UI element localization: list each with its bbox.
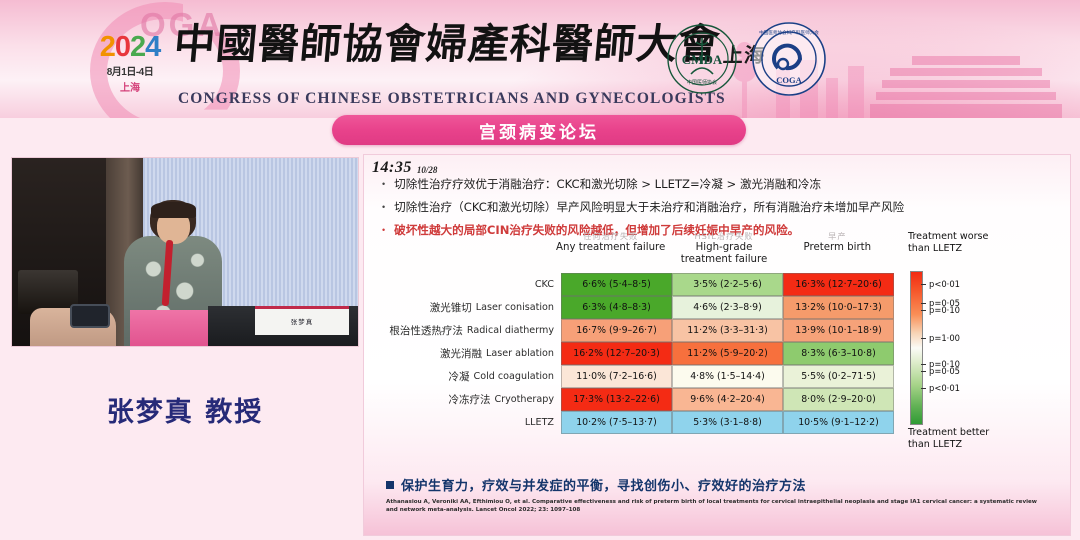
row-label-cn: 冷冻疗法 <box>448 392 490 407</box>
table-cell: 16·7% (9·9–26·7) <box>561 319 672 342</box>
row-label-cn: 根治性透热疗法 <box>389 323 463 338</box>
row-label-en: LLETZ <box>525 417 554 428</box>
row-label: CKC <box>370 273 561 296</box>
column-header-cn: 早产 <box>781 231 894 242</box>
screen-root: OGA 2024 8月1日-4日 上海 中國醫師協會婦產科醫師大會上海 CONG… <box>0 0 1080 540</box>
slide-citation: Athanasiou A, Veroniki AA, Efthimiou O, … <box>386 498 1046 515</box>
legend-gradient-bar <box>910 271 923 425</box>
bullet-item-2: • 切除性治疗（CKC和激光切除）早产风险明显大于未治疗和消融治疗，所有消融治疗… <box>382 200 1058 215</box>
row-label: 冷冻疗法Cryotherapy <box>370 388 561 411</box>
table-cell: 4·8% (1·5–14·4) <box>672 365 783 388</box>
table-column-headers: 任何治疗失败 Any treatment failure HSIL治疗失败 Hi… <box>554 231 894 273</box>
table-cell: 11·2% (5·9–20·2) <box>672 342 783 365</box>
table-cell: 16·3% (12·7–20·6) <box>783 273 894 296</box>
table-row: 根治性透热疗法Radical diathermy16·7% (9·9–26·7)… <box>370 319 894 342</box>
table-cell: 11·0% (7·2–16·6) <box>561 365 672 388</box>
bullet-text: 切除性治疗（CKC和激光切除）早产风险明显大于未治疗和消融治疗，所有消融治疗未增… <box>394 200 904 215</box>
legend-tick: p=1·00 <box>921 333 960 343</box>
row-label-en: Cryotherapy <box>494 394 554 405</box>
table-cell: 5·3% (3·1–8·8) <box>672 411 783 434</box>
row-cells: 10·2% (7·5–13·7)5·3% (3·1–8·8)10·5% (9·1… <box>561 411 894 434</box>
legend-bottom-label: Treatment better than LLETZ <box>908 427 1004 450</box>
legend-tick-mark <box>921 338 926 339</box>
row-label-cn: 激光消融 <box>440 346 482 361</box>
column-header-en: High-grade treatment failure <box>667 242 780 266</box>
legend-tick-label: p=0·10 <box>929 305 960 315</box>
table-row: 激光锥切Laser conisation6·3% (4·8–8·3)4·6% (… <box>370 296 894 319</box>
year-digit-3: 2 <box>130 31 145 63</box>
row-label-cn: 激光锥切 <box>430 300 472 315</box>
legend-tick-mark <box>921 310 926 311</box>
slide-timestamp: 14:35 10/28 <box>372 159 437 177</box>
row-label-en: Cold coagulation <box>474 371 555 382</box>
table-row: CKC6·6% (5·4–8·5)3·5% (2·2–5·6)16·3% (12… <box>370 273 894 296</box>
column-header-cn: 任何治疗失败 <box>554 231 667 242</box>
column-header-high-grade-failure: HSIL治疗失败 High-grade treatment failure <box>667 231 780 273</box>
presentation-slide: 14:35 10/28 • 切除性治疗疗效优于消融治疗：CKC和激光切除 > L… <box>364 155 1070 535</box>
legend-top-label: Treatment worse than LLETZ <box>908 231 1004 254</box>
svg-text:中国医师协会: 中国医师协会 <box>687 79 717 86</box>
row-label-en: Laser conisation <box>476 302 554 313</box>
row-label: 根治性透热疗法Radical diathermy <box>370 319 561 342</box>
table-cell: 6·6% (5·4–8·5) <box>561 273 672 296</box>
bullet-marker: • <box>382 200 385 215</box>
legend-tick-label: p=1·00 <box>929 333 960 343</box>
timestamp-date: 10/28 <box>417 165 438 177</box>
forum-title-text: 宫颈病变论坛 <box>479 118 599 143</box>
legend-tick-mark <box>921 371 926 372</box>
year-digit-1: 2 <box>100 31 115 63</box>
column-header-preterm-birth: 早产 Preterm birth <box>781 231 894 273</box>
row-label-en: CKC <box>535 279 554 290</box>
year-block: 2024 8月1日-4日 上海 <box>86 33 174 94</box>
table-cell: 9·6% (4·2–20·4) <box>672 388 783 411</box>
cmda-logo: CMDA 中国医师协会 <box>665 22 739 96</box>
speaker-fringe <box>151 202 196 218</box>
legend-tick: p=0·10 <box>921 305 960 315</box>
year-digit-2: 0 <box>115 31 130 63</box>
table-cell: 13·9% (10·1–18·9) <box>783 319 894 342</box>
conclusion-text: 保护生育力，疗效与并发症的平衡，寻找创伤小、疗效好的治疗方法 <box>401 475 806 494</box>
nameplate-text: 张梦真 <box>255 316 349 326</box>
legend-tick: p<0·01 <box>921 383 960 393</box>
table-row: 冷冻疗法Cryotherapy17·3% (13·2–22·6)9·6% (4·… <box>370 388 894 411</box>
row-label-en: Radical diathermy <box>467 325 554 336</box>
row-cells: 17·3% (13·2–22·6)9·6% (4·2–20·4)8·0% (2·… <box>561 388 894 411</box>
forum-title-banner: 宫颈病变论坛 <box>332 115 746 145</box>
row-cells: 16·2% (12·7–20·3)11·2% (5·9–20·2)8·3% (6… <box>561 342 894 365</box>
table-cell: 5·5% (0·2–71·5) <box>783 365 894 388</box>
legend-tick-mark <box>921 303 926 304</box>
color-scale-legend: Treatment worse than LLETZ p<0·01p=0·05p… <box>908 231 1004 471</box>
bullet-text: 切除性治疗疗效优于消融治疗：CKC和激光切除 > LLETZ=冷凝 > 激光消融… <box>394 177 821 192</box>
table-cell: 10·5% (9·1–12·2) <box>783 411 894 434</box>
year-digits: 2024 <box>86 33 174 62</box>
legend-tick-mark <box>921 388 926 389</box>
speaker-video-player[interactable]: 张梦真 <box>12 158 358 346</box>
legend-tick: p<0·01 <box>921 279 960 289</box>
bullet-item-1: • 切除性治疗疗效优于消融治疗：CKC和激光切除 > LLETZ=冷凝 > 激光… <box>382 177 1058 192</box>
svg-text:CMDA: CMDA <box>682 52 723 67</box>
table-row: 冷凝Cold coagulation11·0% (7·2–16·6)4·8% (… <box>370 365 894 388</box>
row-label-en: Laser ablation <box>486 348 554 359</box>
phone-device <box>70 304 110 328</box>
conference-title-en: CONGRESS OF CHINESE OBSTETRICIANS AND GY… <box>178 90 726 108</box>
svg-text:COGA: COGA <box>776 75 802 85</box>
row-label: 冷凝Cold coagulation <box>370 365 561 388</box>
legend-tick-label: p<0·01 <box>929 279 960 289</box>
row-cells: 16·7% (9·9–26·7)11·2% (3·3–31·3)13·9% (1… <box>561 319 894 342</box>
timestamp-time: 14:35 <box>372 159 412 177</box>
table-cell: 3·5% (2·2–5·6) <box>672 273 783 296</box>
table-cell: 16·2% (12·7–20·3) <box>561 342 672 365</box>
row-label: 激光消融Laser ablation <box>370 342 561 365</box>
bullet-marker: • <box>382 177 385 192</box>
row-label: 激光锥切Laser conisation <box>370 296 561 319</box>
column-header-any-failure: 任何治疗失败 Any treatment failure <box>554 231 667 273</box>
row-cells: 6·6% (5·4–8·5)3·5% (2·2–5·6)16·3% (12·7–… <box>561 273 894 296</box>
table-cell: 10·2% (7·5–13·7) <box>561 411 672 434</box>
speaker-name-label: 张梦真 教授 <box>12 390 358 429</box>
table-row: LLETZ10·2% (7·5–13·7)5·3% (3·1–8·8)10·5%… <box>370 411 894 434</box>
svg-text:中国医师协会妇产科医师大会: 中国医师协会妇产科医师大会 <box>759 29 819 36</box>
table-cell: 17·3% (13·2–22·6) <box>561 388 672 411</box>
year-digit-4: 4 <box>145 31 160 63</box>
table-cell: 6·3% (4·8–8·3) <box>561 296 672 319</box>
table-row: 激光消融Laser ablation16·2% (12·7–20·3)11·2%… <box>370 342 894 365</box>
column-header-en: Preterm birth <box>781 242 894 254</box>
legend-tick-mark <box>921 284 926 285</box>
conference-header-banner: OGA 2024 8月1日-4日 上海 中國醫師協會婦產科醫師大會上海 CONG… <box>0 0 1080 118</box>
column-header-en: Any treatment failure <box>554 242 667 254</box>
table-cell: 8·3% (6·3–10·8) <box>783 342 894 365</box>
conference-dates: 8月1日-4日 <box>86 63 174 78</box>
row-cells: 11·0% (7·2–16·6)4·8% (1·5–14·4)5·5% (0·2… <box>561 365 894 388</box>
row-cells: 6·3% (4·8–8·3)4·6% (2·3–8·9)13·2% (10·0–… <box>561 296 894 319</box>
row-label: LLETZ <box>370 411 561 434</box>
table-cell: 8·0% (2·9–20·0) <box>783 388 894 411</box>
legend-tick-label: p=0·05 <box>929 366 960 376</box>
table-cell: 13·2% (10·0–17·3) <box>783 296 894 319</box>
legend-tick-mark <box>921 364 926 365</box>
legend-tick: p=0·05 <box>921 366 960 376</box>
column-header-cn: HSIL治疗失败 <box>667 231 780 242</box>
slide-conclusion: 保护生育力，疗效与并发症的平衡，寻找创伤小、疗效好的治疗方法 <box>386 475 806 494</box>
row-label-cn: 冷凝 <box>449 369 470 384</box>
coga-logo: COGA 中国医师协会妇产科医师大会 <box>750 20 828 98</box>
square-bullet-icon <box>386 481 394 489</box>
conference-city: 上海 <box>86 79 174 94</box>
table-cell: 4·6% (2·3–8·9) <box>672 296 783 319</box>
legend-tick-label: p<0·01 <box>929 383 960 393</box>
results-table-figure: 任何治疗失败 Any treatment failure HSIL治疗失败 Hi… <box>370 231 1068 471</box>
table-cell: 11·2% (3·3–31·3) <box>672 319 783 342</box>
results-table-body: CKC6·6% (5·4–8·5)3·5% (2·2–5·6)16·3% (12… <box>370 273 894 434</box>
